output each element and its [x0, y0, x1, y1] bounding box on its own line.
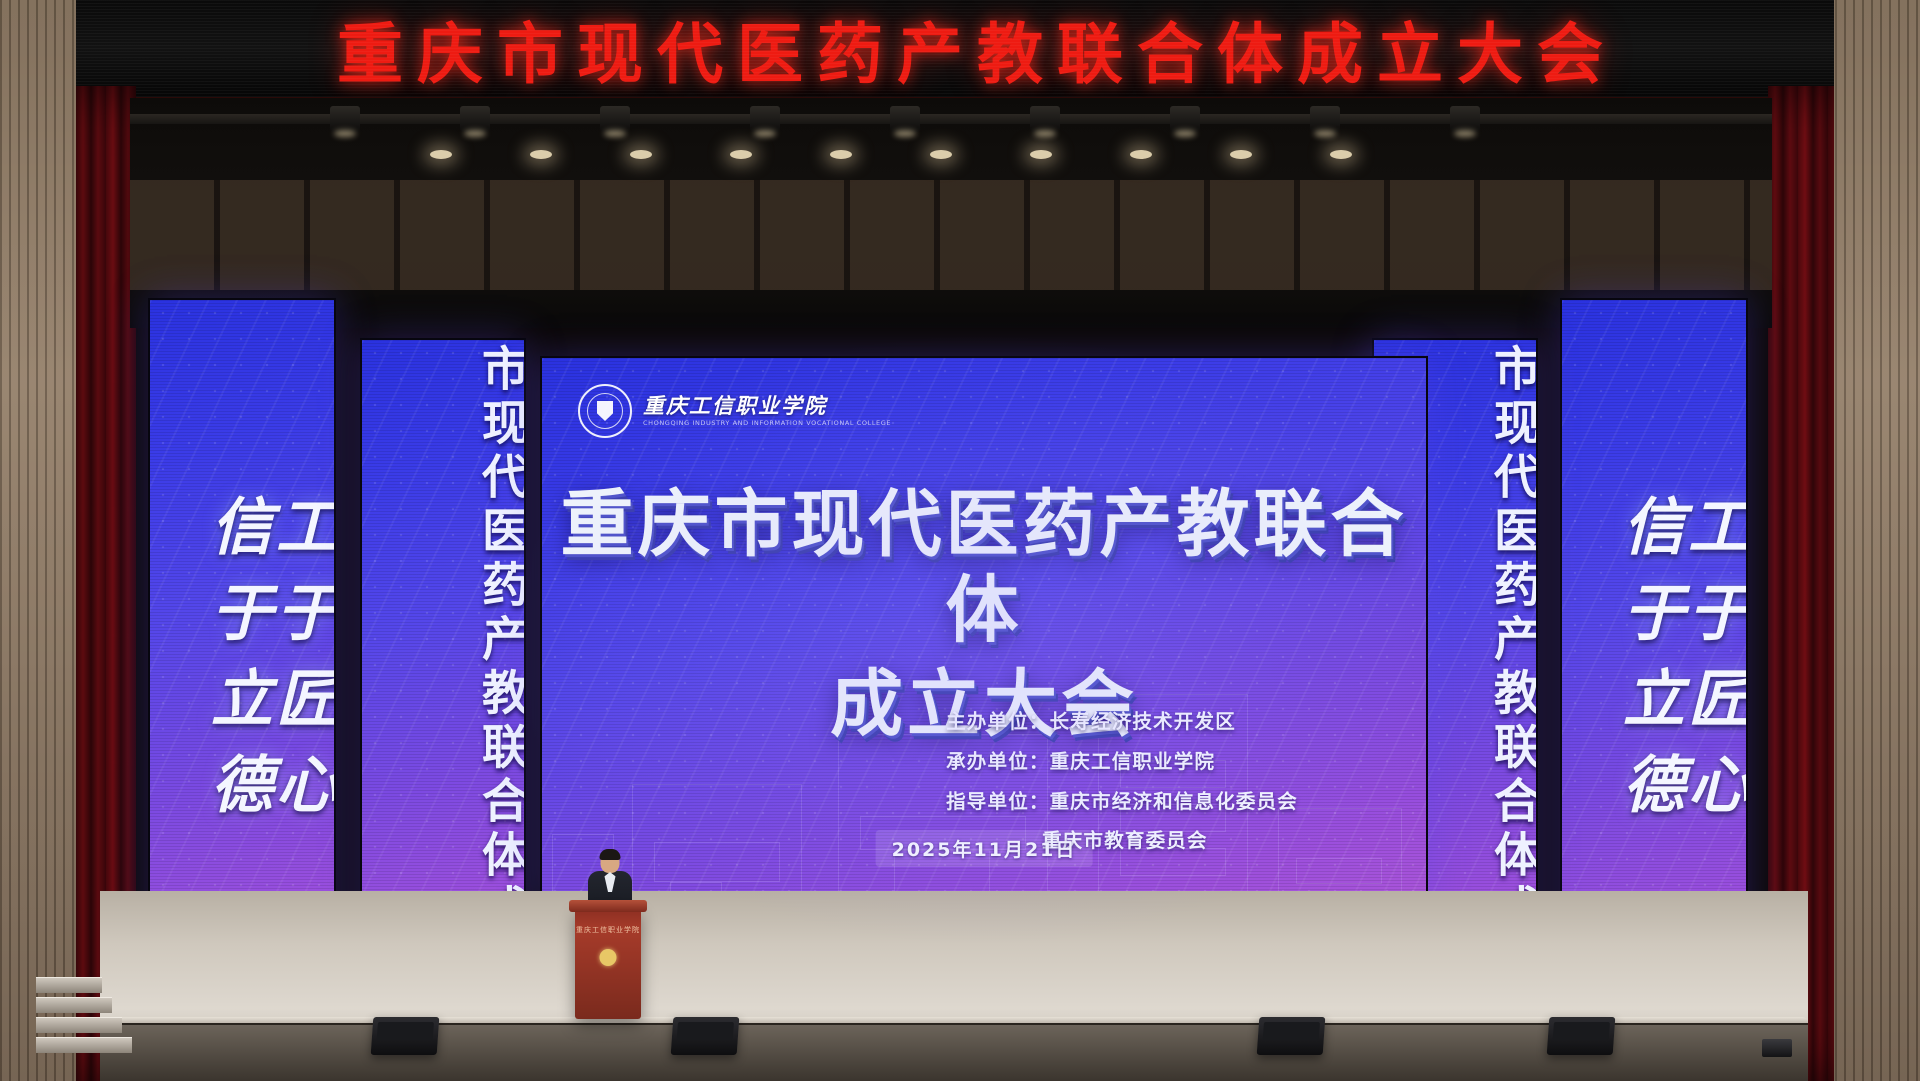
- vertical-banner-outer-left: 工于匠心 信于立德: [148, 298, 336, 988]
- college-logo: 重庆工信职业学院 CHONGQING INDUSTRY AND INFORMAT…: [578, 384, 891, 438]
- lighting-truss: [130, 114, 1772, 124]
- floor-equipment-box: [1762, 1039, 1792, 1057]
- spotlight-icon: [730, 150, 752, 159]
- spotlight-icon: [630, 150, 652, 159]
- vertical-banner-outer-right: 工于匠心 信于立德: [1560, 298, 1748, 988]
- organizer-line-undertaker: 承办单位：重庆工信职业学院: [946, 742, 1298, 782]
- led-headline-banner: 重庆市现代医药产教联合体成立大会: [76, 0, 1834, 100]
- lectern-podium: 重庆工信职业学院: [575, 909, 641, 1019]
- stage-lamp-icon: [330, 106, 360, 132]
- podium-emblem-icon: [600, 949, 617, 966]
- stage-lamp-icon: [750, 106, 780, 132]
- stage-monitor-speaker: [371, 1017, 440, 1055]
- vertical-banner-inner-left-text: 重庆市现代医药产教联合体成立大会: [362, 340, 524, 966]
- spotlight-icon: [1230, 150, 1252, 159]
- stage-lamp-icon: [890, 106, 920, 132]
- vertical-banner-outer-right-text: 工于匠心 信于立德: [1562, 300, 1746, 986]
- vertical-banner-outer-left-text: 工于匠心 信于立德: [150, 300, 334, 986]
- main-led-screen: 重庆工信职业学院 CHONGQING INDUSTRY AND INFORMAT…: [540, 356, 1428, 910]
- led-headline-text: 重庆市现代医药产教联合体成立大会: [337, 1, 1617, 97]
- stage-lamp-icon: [1170, 106, 1200, 132]
- spotlight-icon: [530, 150, 552, 159]
- vertical-banner-inner-left: 重庆市现代医药产教联合体成立大会: [360, 338, 526, 968]
- event-date-badge: 2025年11月21日: [876, 830, 1093, 867]
- spotlight-icon: [830, 150, 852, 159]
- spotlight-icon: [1130, 150, 1152, 159]
- spotlight-icon: [1330, 150, 1352, 159]
- stage-monitor-speaker: [1547, 1017, 1616, 1055]
- spotlight-icon: [930, 150, 952, 159]
- stage-monitor-speaker: [1257, 1017, 1326, 1055]
- ceiling-slat-panels: [130, 180, 1772, 290]
- spotlight-icon: [430, 150, 452, 159]
- organizer-line-guidance: 指导单位：重庆市经济和信息化委员会: [946, 782, 1298, 822]
- stage-lamp-icon: [1030, 106, 1060, 132]
- stage-ceiling: [130, 98, 1772, 328]
- stage-lamp-icon: [600, 106, 630, 132]
- stage-monitor-speaker: [671, 1017, 740, 1055]
- event-title-line-1: 重庆市现代医药产教联合体: [542, 482, 1426, 654]
- stage-lamp-icon: [1450, 106, 1480, 132]
- college-name-en: CHONGQING INDUSTRY AND INFORMATION VOCAT…: [643, 420, 891, 427]
- organizer-line-host: 主办单位：长寿经济技术开发区: [946, 702, 1298, 742]
- conference-stage-photo: 重庆市现代医药产教联合体成立大会 工于匠心 信于立德 工于匠心 信于立德: [0, 0, 1920, 1081]
- podium-label: 重庆工信职业学院: [576, 925, 640, 935]
- spotlight-icon: [1030, 150, 1052, 159]
- stage-lamp-icon: [1310, 106, 1340, 132]
- college-crest-icon: [578, 384, 632, 438]
- stage-stairs: [36, 933, 132, 1053]
- college-name-cn: 重庆工信职业学院: [643, 395, 891, 416]
- shield-icon: [597, 401, 613, 421]
- stage-lamp-icon: [460, 106, 490, 132]
